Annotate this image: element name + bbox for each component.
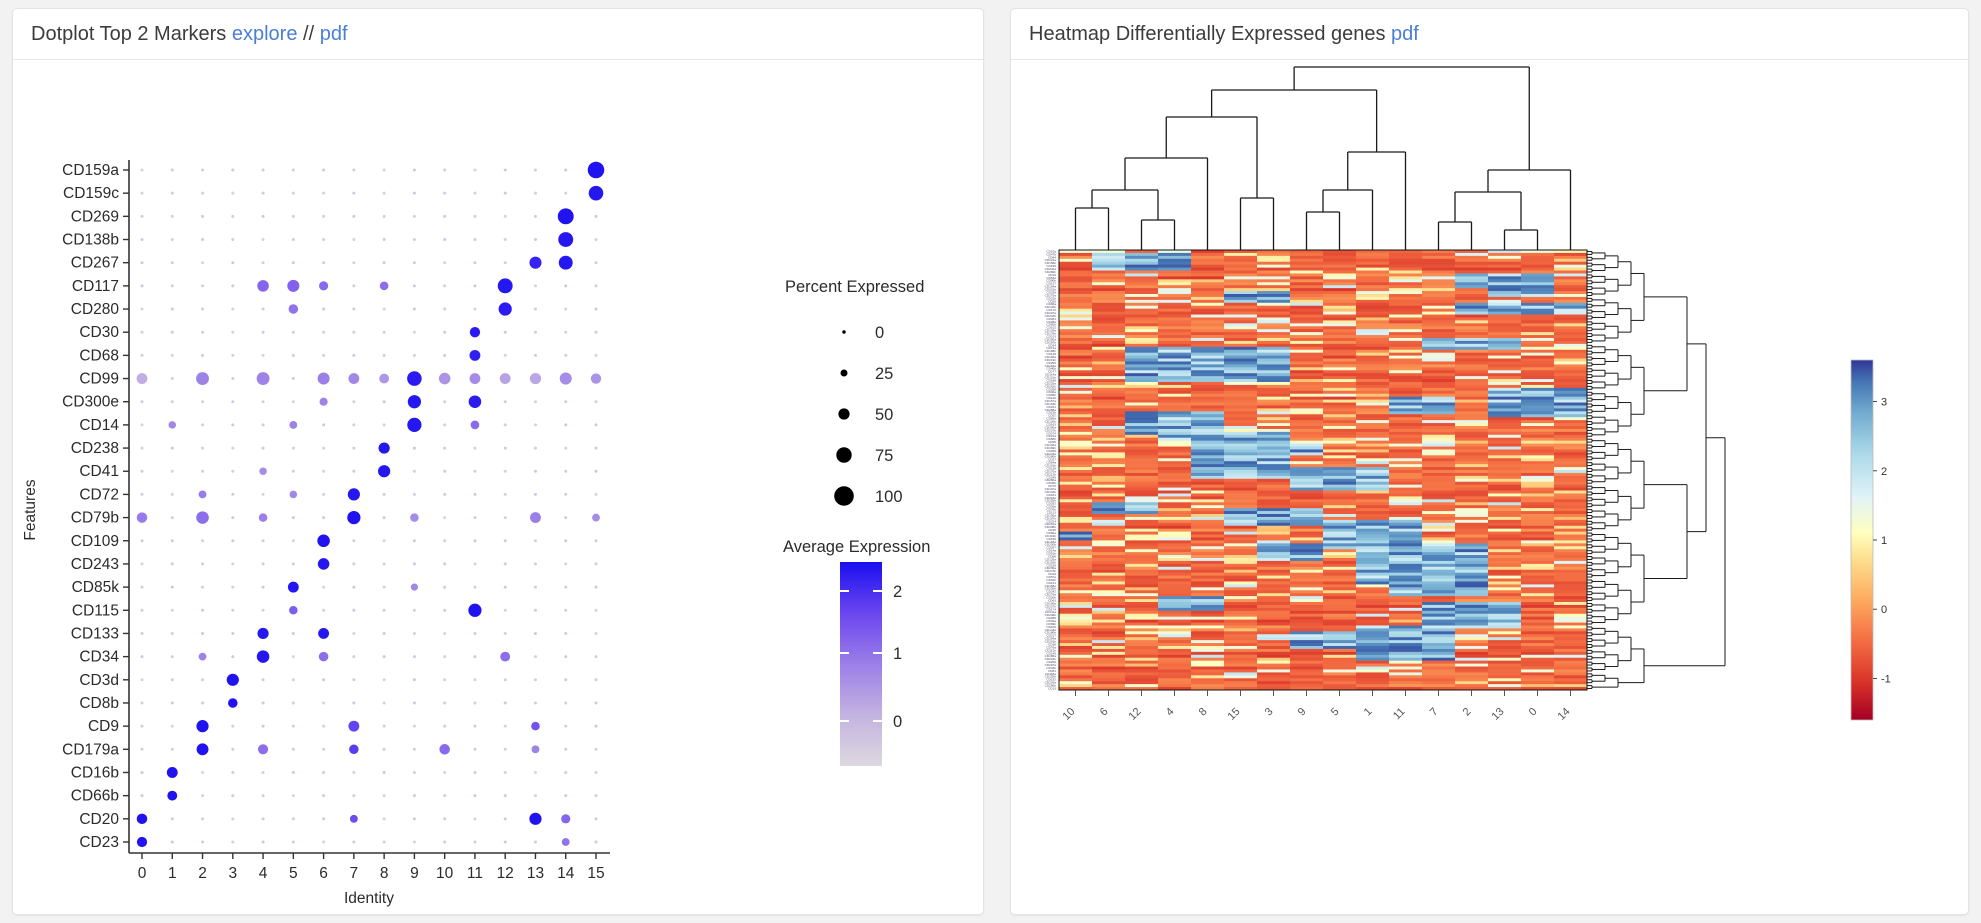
heatmap-cell <box>1059 341 1092 344</box>
dotplot-point <box>443 354 446 357</box>
heatmap-cell <box>1257 669 1290 672</box>
heatmap-cell <box>1125 300 1158 303</box>
heatmap-cell <box>1125 326 1158 329</box>
dotplot-point <box>443 238 446 241</box>
heatmap-cell <box>1059 579 1092 582</box>
heatmap-cell <box>1257 391 1290 394</box>
heatmap-cell <box>1356 581 1389 584</box>
heatmap-cell <box>1521 315 1554 318</box>
heatmap-cell <box>1323 309 1356 312</box>
dotplot-point <box>262 238 265 241</box>
dotplot-x-tick-label: 2 <box>198 865 207 882</box>
heatmap-cell <box>1455 476 1488 479</box>
heatmap-cell <box>1158 332 1191 335</box>
heatmap-cell <box>1554 672 1587 675</box>
heatmap-cell <box>1521 326 1554 329</box>
heatmap-cell <box>1290 344 1323 347</box>
heatmap-cell <box>1224 376 1257 379</box>
heatmap-cell <box>1290 558 1323 561</box>
heatmap-cell <box>1290 617 1323 620</box>
dotplot-point <box>383 261 386 264</box>
heatmap-cell <box>1125 617 1158 620</box>
dotplot-point <box>564 192 567 195</box>
dotplot-point <box>443 701 446 704</box>
heatmap-cell <box>1125 608 1158 611</box>
dotplot-point <box>201 701 204 704</box>
heatmap-cell <box>1158 271 1191 274</box>
heatmap-cell <box>1356 482 1389 485</box>
heatmap-cell <box>1092 288 1125 291</box>
heatmap-cell <box>1125 420 1158 423</box>
heatmap-cell <box>1356 315 1389 318</box>
heatmap-cell <box>1191 335 1224 338</box>
heatmap-cell <box>1554 634 1587 637</box>
heatmap-cell <box>1455 271 1488 274</box>
dotplot-point <box>500 652 510 662</box>
heatmap-cell <box>1389 306 1422 309</box>
heatmap-cell <box>1059 661 1092 664</box>
dotplot-point <box>292 331 295 334</box>
heatmap-cell <box>1290 625 1323 628</box>
heatmap-cell <box>1059 458 1092 461</box>
heatmap-cell <box>1455 303 1488 306</box>
heatmap-cell <box>1356 397 1389 400</box>
dotplot-point <box>504 794 507 797</box>
heatmap-cell <box>1323 587 1356 590</box>
heatmap-cell <box>1455 253 1488 256</box>
heatmap-cell <box>1422 505 1455 508</box>
heatmap-cell <box>1125 350 1158 353</box>
heatmap-cell <box>1158 628 1191 631</box>
heatmap-cell <box>1389 441 1422 444</box>
heatmap-cell <box>1521 535 1554 538</box>
heatmap-cell <box>1224 312 1257 315</box>
heatmap-cell <box>1158 517 1191 520</box>
heatmap-cell <box>1125 359 1158 362</box>
heatmap-cell <box>1092 491 1125 494</box>
heatmap-cell <box>1521 508 1554 511</box>
heatmap-cell <box>1356 675 1389 678</box>
heatmap-cell <box>1554 353 1587 356</box>
heatmap-cell <box>1125 447 1158 450</box>
heatmap-cell <box>1521 540 1554 543</box>
heatmap-cell <box>1092 631 1125 634</box>
heatmap-cell <box>1554 620 1587 623</box>
heatmap-cell <box>1554 488 1587 491</box>
heatmap-cell <box>1290 499 1323 502</box>
heatmap-cell <box>1092 535 1125 538</box>
heatmap-cell <box>1521 564 1554 567</box>
heatmap-cell <box>1191 449 1224 452</box>
heatmap-cell <box>1455 341 1488 344</box>
heatmap-cell <box>1290 411 1323 414</box>
heatmap-cell <box>1059 464 1092 467</box>
dotplot-point <box>322 169 325 172</box>
heatmap-cell <box>1059 482 1092 485</box>
heatmap-cell <box>1158 455 1191 458</box>
dotplot-point <box>141 308 144 311</box>
heatmap-cell <box>1224 464 1257 467</box>
heatmap-cell <box>1059 359 1092 362</box>
heatmap-cell <box>1290 394 1323 397</box>
heatmap-cell <box>1323 573 1356 576</box>
dotplot-x-tick-label: 6 <box>319 865 328 882</box>
heatmap-cell <box>1455 628 1488 631</box>
heatmap-cell <box>1323 285 1356 288</box>
dotplot-point <box>352 331 355 334</box>
heatmap-cell <box>1125 385 1158 388</box>
heatmap-cell <box>1224 634 1257 637</box>
heatmap-cell <box>1455 300 1488 303</box>
heatmap-cell <box>1455 576 1488 579</box>
heatmap-cell <box>1257 661 1290 664</box>
heatmap-cell <box>1191 558 1224 561</box>
heatmap-cell <box>1521 309 1554 312</box>
heatmap-cell <box>1290 338 1323 341</box>
heatmap-cell <box>1059 684 1092 687</box>
dotplot-point <box>171 493 174 496</box>
heatmap-cell <box>1356 543 1389 546</box>
dotplot-point <box>141 632 144 635</box>
heatmap-cell <box>1224 423 1257 426</box>
dotplot-point <box>318 373 330 385</box>
heatmap-cell <box>1422 373 1455 376</box>
dotplot-point <box>201 841 204 844</box>
dotplot-point <box>292 632 295 635</box>
heatmap-cell <box>1290 564 1323 567</box>
dotplot-point <box>262 539 265 542</box>
heatmap-cell <box>1092 552 1125 555</box>
heatmap-cell <box>1191 464 1224 467</box>
heatmap-cell <box>1158 537 1191 540</box>
heatmap-cell <box>1488 400 1521 403</box>
dotplot-point <box>504 539 507 542</box>
heatmap-cell <box>1257 438 1290 441</box>
heatmap-cell <box>1554 282 1587 285</box>
heatmap-cell <box>1257 317 1290 320</box>
heatmap-cell <box>1059 570 1092 573</box>
heatmap-cell <box>1125 423 1158 426</box>
heatmap-cell <box>1257 379 1290 382</box>
heatmap-title: Heatmap Differentially Expressed genes <box>1029 23 1385 45</box>
heatmap-cell <box>1092 259 1125 262</box>
heatmap-cell <box>1125 291 1158 294</box>
heatmap-cell <box>1257 282 1290 285</box>
dotplot-point <box>473 701 476 704</box>
heatmap-cell <box>1290 579 1323 582</box>
heatmap-cell <box>1125 370 1158 373</box>
heatmap-cell <box>1323 315 1356 318</box>
dotplot-point <box>504 192 507 195</box>
heatmap-cell <box>1488 288 1521 291</box>
heatmap-cell <box>1158 529 1191 532</box>
heatmap-cell <box>1059 646 1092 649</box>
heatmap-cell <box>1389 537 1422 540</box>
dotplot-point <box>141 447 144 450</box>
heatmap-cell <box>1257 684 1290 687</box>
heatmap-cell <box>1422 669 1455 672</box>
dotplot-point <box>443 331 446 334</box>
heatmap-row-dendrogram <box>1587 251 1725 688</box>
heatmap-cell <box>1092 558 1125 561</box>
heatmap-cell <box>1125 599 1158 602</box>
heatmap-cell <box>1290 620 1323 623</box>
dotplot-point <box>504 562 507 565</box>
heatmap-cell <box>1257 499 1290 502</box>
heatmap-pdf-link[interactable]: pdf <box>1391 23 1419 45</box>
heatmap-cell <box>1290 329 1323 332</box>
heatmap-cell <box>1521 552 1554 555</box>
heatmap-cell <box>1521 681 1554 684</box>
heatmap-cell <box>1158 678 1191 681</box>
heatmap-cell <box>1488 552 1521 555</box>
heatmap-column-label: 10 <box>1060 706 1077 723</box>
heatmap-cell <box>1488 344 1521 347</box>
dotplot-x-axis-title: Identity <box>344 890 394 907</box>
dotplot-point <box>322 609 325 612</box>
heatmap-cell <box>1257 259 1290 262</box>
dotplot-point <box>231 400 234 403</box>
heatmap-cell <box>1125 526 1158 529</box>
heatmap-column-label: 5 <box>1329 706 1342 719</box>
dotplot-axes: CD159aCD159cCD269CD138bCD267CD117CD280CD… <box>22 160 610 907</box>
heatmap-cell <box>1455 535 1488 538</box>
heatmap-cell <box>1092 294 1125 297</box>
heatmap-cell <box>1554 584 1587 587</box>
dotplot-point <box>504 516 507 519</box>
dotplot-point <box>564 678 567 681</box>
heatmap-cell <box>1059 667 1092 670</box>
heatmap-cell <box>1356 488 1389 491</box>
heatmap-cell <box>1224 332 1257 335</box>
dotplot-y-tick-label: CD30 <box>79 324 119 341</box>
heatmap-cell <box>1257 491 1290 494</box>
heatmap-cell <box>1488 587 1521 590</box>
heatmap-cell <box>1356 576 1389 579</box>
heatmap-cell <box>1224 403 1257 406</box>
heatmap-cell <box>1125 411 1158 414</box>
dotplot-point <box>352 192 355 195</box>
dotplot-point <box>378 465 390 477</box>
heatmap-cell <box>1554 561 1587 564</box>
heatmap-cell <box>1422 623 1455 626</box>
heatmap-cell <box>1488 664 1521 667</box>
heatmap-cell <box>1290 253 1323 256</box>
heatmap-cell <box>1290 382 1323 385</box>
heatmap-cell <box>1521 620 1554 623</box>
dotplot-point <box>322 470 325 473</box>
heatmap-cell <box>1092 529 1125 532</box>
dotplot-point <box>171 678 174 681</box>
heatmap-cell <box>1290 276 1323 279</box>
heatmap-cell <box>1092 320 1125 323</box>
heatmap-cell <box>1257 256 1290 259</box>
heatmap-cell <box>1389 367 1422 370</box>
dotplot-point <box>413 493 416 496</box>
heatmap-cell <box>1290 426 1323 429</box>
heatmap-cell <box>1488 282 1521 285</box>
heatmap-cell <box>1059 405 1092 408</box>
heatmap-cell <box>1224 268 1257 271</box>
dotplot-point <box>262 817 265 820</box>
heatmap-cell <box>1422 391 1455 394</box>
heatmap-cell <box>1488 303 1521 306</box>
heatmap-cell <box>1125 502 1158 505</box>
heatmap-cell <box>1521 643 1554 646</box>
heatmap-cell <box>1455 256 1488 259</box>
heatmap-cell <box>1488 452 1521 455</box>
dotplot-point <box>534 470 537 473</box>
heatmap-cell <box>1389 599 1422 602</box>
heatmap-cell <box>1059 493 1092 496</box>
heatmap-cell <box>1158 655 1191 658</box>
heatmap-cell <box>1389 625 1422 628</box>
heatmap-cell <box>1224 359 1257 362</box>
heatmap-cell <box>1257 320 1290 323</box>
heatmap-cell <box>1422 511 1455 514</box>
heatmap-cell <box>1554 397 1587 400</box>
heatmap-cell <box>1323 543 1356 546</box>
heatmap-cell <box>1191 505 1224 508</box>
dotplot-point <box>201 632 204 635</box>
heatmap-cell <box>1059 655 1092 658</box>
dotplot-point <box>561 814 570 823</box>
heatmap-cell <box>1455 344 1488 347</box>
heatmap-cell <box>1092 359 1125 362</box>
heatmap-cell <box>1455 353 1488 356</box>
heatmap-cell <box>1455 596 1488 599</box>
heatmap-cell <box>1554 400 1587 403</box>
heatmap-cell <box>1059 297 1092 300</box>
heatmap-cell <box>1422 291 1455 294</box>
dotplot-point <box>534 238 537 241</box>
heatmap-cell <box>1125 535 1158 538</box>
heatmap-cell <box>1092 329 1125 332</box>
heatmap-cell <box>1323 288 1356 291</box>
heatmap-cell <box>1323 367 1356 370</box>
heatmap-cell <box>1224 590 1257 593</box>
heatmap-cell <box>1488 520 1521 523</box>
heatmap-cell <box>1422 493 1455 496</box>
heatmap-cell <box>1389 552 1422 555</box>
heatmap-cell <box>1554 661 1587 664</box>
heatmap-cell <box>1158 291 1191 294</box>
heatmap-cell <box>1554 555 1587 558</box>
heatmap-cell <box>1158 523 1191 526</box>
heatmap-cell <box>1257 655 1290 658</box>
heatmap-cell <box>1158 581 1191 584</box>
dotplot-point <box>383 423 386 426</box>
heatmap-cell <box>1356 605 1389 608</box>
heatmap-cell <box>1191 441 1224 444</box>
heatmap-cell <box>1092 467 1125 470</box>
heatmap-cell <box>1521 455 1554 458</box>
heatmap-cell <box>1158 675 1191 678</box>
heatmap-cell <box>1389 435 1422 438</box>
heatmap-cell <box>1125 476 1158 479</box>
heatmap-cell <box>1224 262 1257 265</box>
heatmap-cell <box>1257 294 1290 297</box>
heatmap-cell <box>1455 517 1488 520</box>
heatmap-cell <box>1257 681 1290 684</box>
heatmap-cell <box>1389 391 1422 394</box>
heatmap-cell <box>1191 294 1224 297</box>
heatmap-cell <box>1059 514 1092 517</box>
heatmap-cell <box>1521 338 1554 341</box>
heatmap-cell <box>1158 646 1191 649</box>
heatmap-cell <box>1059 400 1092 403</box>
heatmap-cell <box>1488 317 1521 320</box>
heatmap-cell <box>1422 587 1455 590</box>
dotplot-point <box>141 423 144 426</box>
heatmap-cell <box>1323 605 1356 608</box>
dotplot-point <box>383 169 386 172</box>
heatmap-cell <box>1356 520 1389 523</box>
heatmap-cell <box>1125 461 1158 464</box>
heatmap-cell <box>1356 502 1389 505</box>
heatmap-cell <box>1125 432 1158 435</box>
dotplot-point <box>531 722 540 731</box>
heatmap-cell <box>1389 388 1422 391</box>
heatmap-chart: CD10aCD47bCD84CD121aCD158bCD195CD232aCD2… <box>1011 60 1968 914</box>
heatmap-cell <box>1323 470 1356 473</box>
heatmap-cell <box>1158 429 1191 432</box>
heatmap-cell <box>1323 517 1356 520</box>
heatmap-cell <box>1521 549 1554 552</box>
dotplot-pdf-link[interactable]: pdf <box>320 23 348 45</box>
dotplot-point <box>413 169 416 172</box>
dotplot-point <box>352 284 355 287</box>
dotplot-point <box>228 698 238 708</box>
heatmap-cell <box>1092 576 1125 579</box>
dotplot-point <box>498 278 513 293</box>
dotplot-point <box>473 748 476 751</box>
dotplot-point <box>171 632 174 635</box>
dotplot-point <box>292 655 295 658</box>
dotplot-y-tick-label: CD133 <box>71 625 119 642</box>
heatmap-cell <box>1224 294 1257 297</box>
heatmap-cell <box>1257 291 1290 294</box>
heatmap-cell <box>1488 268 1521 271</box>
dotplot-explore-link[interactable]: explore <box>232 23 298 45</box>
heatmap-cell <box>1257 529 1290 532</box>
heatmap-cell <box>1554 438 1587 441</box>
heatmap-cell <box>1125 611 1158 614</box>
dotplot-y-tick-label: CD238 <box>71 440 119 457</box>
heatmap-cell <box>1554 675 1587 678</box>
heatmap-cell <box>1158 285 1191 288</box>
heatmap-cell <box>1224 276 1257 279</box>
heatmap-cell <box>1125 637 1158 640</box>
heatmap-cell <box>1191 356 1224 359</box>
heatmap-cell <box>1455 473 1488 476</box>
heatmap-cell <box>1356 658 1389 661</box>
dotplot-point <box>534 447 537 450</box>
heatmap-cell <box>1092 400 1125 403</box>
heatmap-cell <box>1422 643 1455 646</box>
heatmap-row-labels: CD10aCD47bCD84CD121aCD158bCD195CD232aCD2… <box>1045 249 1057 690</box>
heatmap-cell <box>1389 438 1422 441</box>
heatmap-cell <box>1323 444 1356 447</box>
dotplot-point <box>171 169 174 172</box>
heatmap-cell <box>1356 479 1389 482</box>
heatmap-cell <box>1356 370 1389 373</box>
heatmap-cell <box>1389 350 1422 353</box>
heatmap-cell <box>1191 326 1224 329</box>
heatmap-cell <box>1356 546 1389 549</box>
heatmap-cell <box>1554 429 1587 432</box>
heatmap-cell <box>1488 590 1521 593</box>
